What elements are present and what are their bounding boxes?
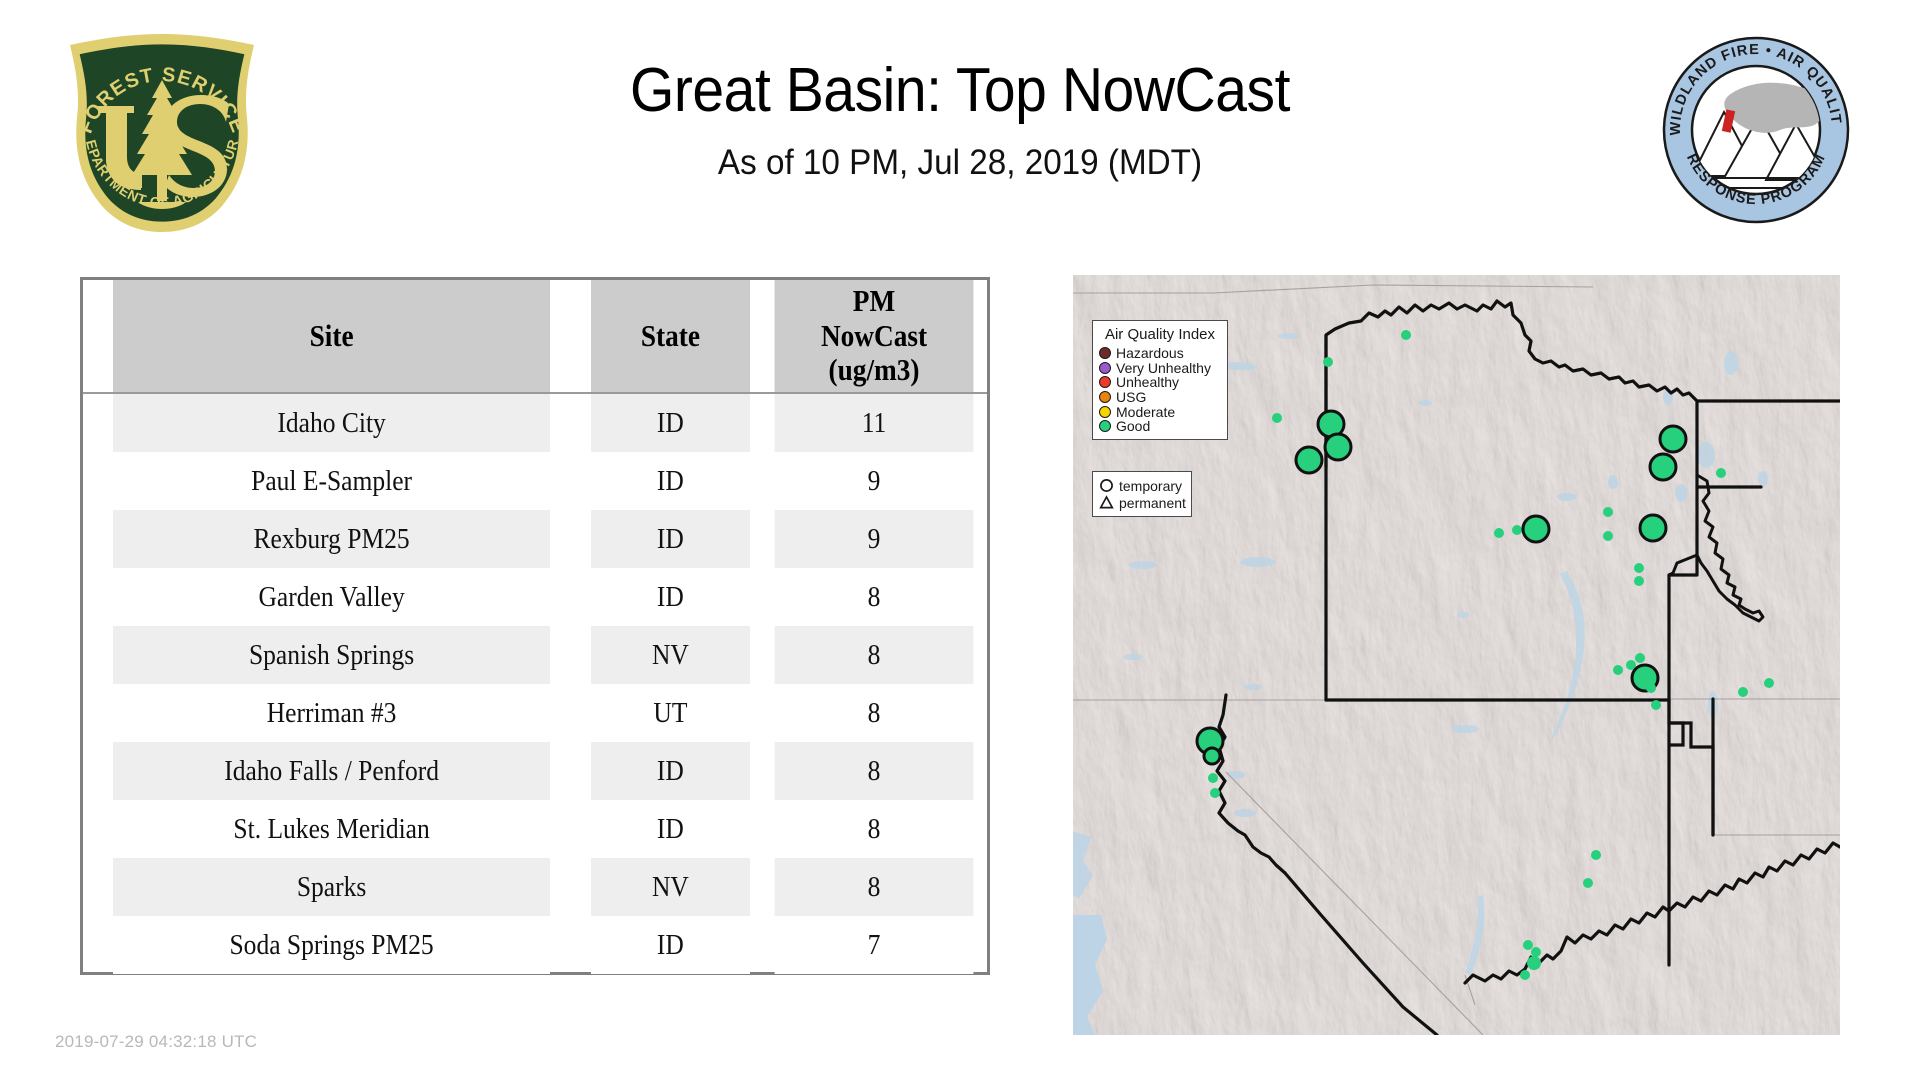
table-row: SparksNV8 <box>83 858 987 916</box>
monitor-type-legend: temporary permanent <box>1092 471 1192 517</box>
monitor-marker[interactable] <box>1635 653 1645 663</box>
monitor-marker[interactable] <box>1204 748 1220 764</box>
cell-state: ID <box>591 510 750 568</box>
monitor-marker[interactable] <box>1523 940 1533 950</box>
monitor-marker[interactable] <box>1716 468 1726 478</box>
aqi-legend: Air Quality Index HazardousVery Unhealth… <box>1092 320 1228 440</box>
cell-value: 9 <box>775 452 974 510</box>
aqi-legend-label: Very Unhealthy <box>1116 360 1211 376</box>
monitor-marker[interactable] <box>1634 576 1644 586</box>
cell-value: 11 <box>775 393 974 452</box>
cell-state: UT <box>591 684 750 742</box>
monitor-marker[interactable] <box>1208 773 1218 783</box>
aqi-legend-label: Moderate <box>1116 404 1175 420</box>
column-header-pm-line2: NowCast <box>775 319 974 354</box>
legend-row-permanent: permanent <box>1099 494 1185 511</box>
aqi-swatch-icon <box>1099 376 1111 388</box>
triangle-outline-icon <box>1099 495 1115 510</box>
cell-site: Idaho Falls / Penford <box>113 742 551 800</box>
aqi-legend-label: Hazardous <box>1116 345 1184 361</box>
monitor-marker[interactable] <box>1591 850 1601 860</box>
monitor-marker[interactable] <box>1613 665 1623 675</box>
table-row: Spanish SpringsNV8 <box>83 626 987 684</box>
aqi-legend-row: USG <box>1099 390 1221 405</box>
table-row: Idaho Falls / PenfordID8 <box>83 742 987 800</box>
monitor-marker[interactable] <box>1494 528 1504 538</box>
cell-state: ID <box>591 800 750 858</box>
monitor-marker[interactable] <box>1272 413 1282 423</box>
generated-timestamp: 2019-07-29 04:32:18 UTC <box>55 1032 257 1052</box>
us-forest-service-logo: FOREST SERVICE DEPARTMENT OF AGRICULTURE <box>58 30 266 235</box>
table-row: Rexburg PM25ID9 <box>83 510 987 568</box>
table-row: Soda Springs PM25ID7 <box>83 916 987 974</box>
page-subtitle: As of 10 PM, Jul 28, 2019 (MDT) <box>314 143 1606 183</box>
column-header-state: State <box>591 280 750 393</box>
monitor-marker[interactable] <box>1583 878 1593 888</box>
aqi-legend-row: Good <box>1099 419 1221 434</box>
cell-state: ID <box>591 916 750 974</box>
monitor-marker[interactable] <box>1640 515 1666 541</box>
monitor-marker[interactable] <box>1764 678 1774 688</box>
monitor-marker[interactable] <box>1646 683 1656 693</box>
aqi-swatch-icon <box>1099 362 1111 374</box>
aqi-swatch-icon <box>1099 406 1111 418</box>
cell-site: St. Lukes Meridian <box>113 800 551 858</box>
cell-site: Garden Valley <box>113 568 551 626</box>
cell-value: 7 <box>775 916 974 974</box>
wildland-fire-air-quality-logo: WILDLAND FIRE • AIR QUALITY RESPONSE PRO… <box>1662 36 1850 224</box>
monitor-marker[interactable] <box>1520 970 1530 980</box>
monitor-marker[interactable] <box>1210 788 1220 798</box>
cell-value: 9 <box>775 510 974 568</box>
cell-site: Paul E-Sampler <box>113 452 551 510</box>
cell-site: Idaho City <box>113 393 551 452</box>
cell-state: NV <box>591 626 750 684</box>
cell-site: Soda Springs PM25 <box>113 916 551 974</box>
monitor-marker[interactable] <box>1650 454 1676 480</box>
monitor-marker[interactable] <box>1738 687 1748 697</box>
cell-state: ID <box>591 393 750 452</box>
cell-value: 8 <box>775 858 974 916</box>
cell-state: ID <box>591 568 750 626</box>
monitor-marker[interactable] <box>1325 434 1351 460</box>
cell-state: NV <box>591 858 750 916</box>
column-header-pm-nowcast: PM NowCast (ug/m3) <box>775 280 974 393</box>
cell-site: Rexburg PM25 <box>113 510 551 568</box>
aqi-legend-row: Very Unhealthy <box>1099 361 1221 376</box>
monitor-marker[interactable] <box>1603 531 1613 541</box>
column-header-pm-line1: PM <box>775 284 974 319</box>
aqi-legend-label: Unhealthy <box>1116 374 1179 390</box>
aqi-legend-label: USG <box>1116 389 1146 405</box>
cell-value: 8 <box>775 568 974 626</box>
aqi-legend-label: Good <box>1116 418 1150 434</box>
aqi-swatch-icon <box>1099 347 1111 359</box>
aqi-legend-row: Moderate <box>1099 404 1221 419</box>
aqi-swatch-icon <box>1099 420 1111 432</box>
table-row: Herriman #3UT8 <box>83 684 987 742</box>
monitor-marker[interactable] <box>1296 447 1322 473</box>
monitor-marker[interactable] <box>1323 357 1333 367</box>
aqi-legend-row: Hazardous <box>1099 346 1221 361</box>
table-row: Garden ValleyID8 <box>83 568 987 626</box>
legend-label-temporary: temporary <box>1119 478 1182 494</box>
cell-state: ID <box>591 452 750 510</box>
monitor-marker[interactable] <box>1651 700 1661 710</box>
monitor-marker[interactable] <box>1523 516 1549 542</box>
aqi-legend-title: Air Quality Index <box>1099 326 1221 343</box>
aqi-legend-row: Unhealthy <box>1099 375 1221 390</box>
page-title: Great Basin: Top NowCast <box>334 58 1585 123</box>
cell-value: 8 <box>775 626 974 684</box>
table-row: St. Lukes MeridianID8 <box>83 800 987 858</box>
cell-site: Sparks <box>113 858 551 916</box>
cell-site: Herriman #3 <box>113 684 551 742</box>
cell-value: 8 <box>775 684 974 742</box>
monitor-marker[interactable] <box>1401 330 1411 340</box>
cell-value: 8 <box>775 742 974 800</box>
monitor-marker[interactable] <box>1512 525 1522 535</box>
nowcast-table: Site State PM NowCast (ug/m3) Idaho City… <box>80 277 990 975</box>
title-block: Great Basin: Top NowCast As of 10 PM, Ju… <box>280 58 1640 183</box>
monitor-marker[interactable] <box>1660 426 1686 452</box>
table-row: Idaho CityID11 <box>83 393 987 452</box>
cell-state: ID <box>591 742 750 800</box>
monitor-marker[interactable] <box>1634 563 1644 573</box>
legend-label-permanent: permanent <box>1119 495 1186 511</box>
table-row: Paul E-SamplerID9 <box>83 452 987 510</box>
monitor-marker[interactable] <box>1603 507 1613 517</box>
cell-value: 8 <box>775 800 974 858</box>
column-header-pm-line3: (ug/m3) <box>775 353 974 388</box>
legend-row-temporary: temporary <box>1099 477 1185 494</box>
cell-site: Spanish Springs <box>113 626 551 684</box>
monitor-marker[interactable] <box>1527 956 1541 970</box>
column-header-site: Site <box>113 280 551 393</box>
circle-outline-icon <box>1099 478 1115 493</box>
air-quality-map[interactable]: Air Quality Index HazardousVery Unhealth… <box>1073 275 1840 1035</box>
table-header-row: Site State PM NowCast (ug/m3) <box>83 280 987 393</box>
slide-root: FOREST SERVICE DEPARTMENT OF AGRICULTURE… <box>0 0 1920 1080</box>
aqi-swatch-icon <box>1099 391 1111 403</box>
monitor-marker[interactable] <box>1531 947 1541 957</box>
